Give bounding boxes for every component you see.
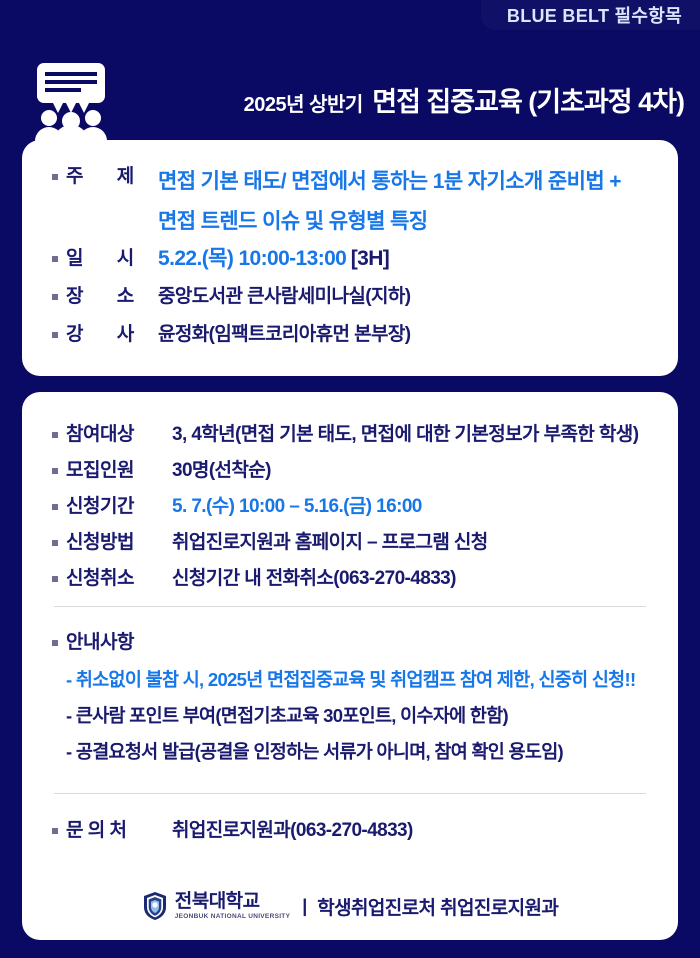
row-application-method: 신청방법 취업진로지원과 홈페이지 – 프로그램 신청 <box>22 528 678 558</box>
note-item-3: - 공결요청서 발급(공결을 인정하는 서류가 아니며, 참여 확인 용도임) <box>66 738 563 764</box>
square-bullet-icon <box>52 332 58 338</box>
row-subject: 주 제 면접 기본 태도/ 면접에서 통하는 1분 자기소개 준비법 + 면접 … <box>22 162 678 242</box>
row-target-audience: 참여대상 3, 4학년(면접 기본 태도, 면접에 대한 기본정보가 부족한 학… <box>22 420 678 450</box>
university-name-en: JEONBUK NATIONAL UNIVERSITY <box>175 912 290 921</box>
footer-separator: | <box>302 896 307 917</box>
title-prefix: 2025년 상반기 <box>244 94 363 116</box>
blue-belt-tag: BLUE BELT 필수항목 <box>481 0 700 30</box>
value-application-period: 5. 7.(수) 10:00 – 5.16.(금) 16:00 <box>172 492 422 522</box>
title-main: 면접 집중교육 (기초과정 4차) <box>372 87 684 117</box>
row-cancellation: 신청취소 신청기간 내 전화취소(063-270-4833) <box>22 564 678 594</box>
section-divider <box>54 606 646 607</box>
label-notes-heading: 안내사항 <box>66 628 134 658</box>
square-bullet-icon <box>52 174 58 180</box>
row-location: 장 소 중앙도서관 큰사람세미나실(지하) <box>22 282 678 312</box>
label-capacity: 모집인원 <box>66 456 172 486</box>
square-bullet-icon <box>52 294 58 300</box>
note-item-1: - 취소없이 불참 시, 2025년 면접집중교육 및 취업캠프 참여 제한, … <box>66 666 635 692</box>
program-details-card: 주 제 면접 기본 태도/ 면접에서 통하는 1분 자기소개 준비법 + 면접 … <box>22 140 678 376</box>
datetime-value: 5.22.(목) 10:00-13:00 <box>158 247 346 270</box>
square-bullet-icon <box>52 256 58 262</box>
label-application-period: 신청기간 <box>66 492 172 522</box>
square-bullet-icon <box>52 640 58 646</box>
page-title: 2025년 상반기 면접 집중교육 (기초과정 4차) <box>200 80 684 119</box>
value-capacity: 30명(선착순) <box>172 456 271 486</box>
datetime-duration: [3H] <box>351 247 389 270</box>
jbnu-shield-logo-icon <box>142 891 168 921</box>
value-location: 중앙도서관 큰사람세미나실(지하) <box>158 282 410 312</box>
square-bullet-icon <box>52 468 58 474</box>
value-contact: 취업진로지원과(063-270-4833) <box>172 816 413 846</box>
label-contact: 문 의 처 <box>66 816 172 846</box>
value-cancellation: 신청기간 내 전화취소(063-270-4833) <box>172 564 456 594</box>
application-info-card: 참여대상 3, 4학년(면접 기본 태도, 면접에 대한 기본정보가 부족한 학… <box>22 392 678 940</box>
university-name-ko: 전북대학교 <box>175 892 290 911</box>
square-bullet-icon <box>52 828 58 834</box>
value-target-audience: 3, 4학년(면접 기본 태도, 면접에 대한 기본정보가 부족한 학생) <box>172 420 638 450</box>
label-target-audience: 참여대상 <box>66 420 172 450</box>
blue-belt-label: BLUE BELT 필수항목 <box>507 2 682 28</box>
value-subject: 면접 기본 태도/ 면접에서 통하는 1분 자기소개 준비법 + 면접 트렌드 … <box>158 162 621 242</box>
label-datetime: 일 시 <box>66 244 158 274</box>
square-bullet-icon <box>52 504 58 510</box>
row-datetime: 일 시 5.22.(목) 10:00-13:00 [3H] <box>22 244 678 274</box>
row-instructor: 강 사 윤정화(임팩트코리아휴먼 본부장) <box>22 320 678 350</box>
top-banner-bar: BLUE BELT 필수항목 <box>0 0 700 30</box>
subject-line-1: 면접 기본 태도/ 면접에서 통하는 1분 자기소개 준비법 + <box>158 170 621 193</box>
label-application-method: 신청방법 <box>66 528 172 558</box>
section-divider <box>54 793 646 794</box>
row-contact: 문 의 처 취업진로지원과(063-270-4833) <box>22 816 678 846</box>
row-notes-heading: 안내사항 <box>22 628 678 658</box>
presentation-audience-icon <box>33 63 109 141</box>
footer-branding: 전북대학교 JEONBUK NATIONAL UNIVERSITY | 학생취업… <box>22 878 678 934</box>
value-application-method: 취업진로지원과 홈페이지 – 프로그램 신청 <box>172 528 488 558</box>
value-datetime: 5.22.(목) 10:00-13:00 [3H] <box>158 244 389 274</box>
label-instructor: 강 사 <box>66 320 158 350</box>
note-item-2: - 큰사람 포인트 부여(면접기초교육 30포인트, 이수자에 한함) <box>66 702 508 728</box>
poster-header: 2025년 상반기 면접 집중교육 (기초과정 4차) <box>0 30 700 140</box>
label-subject: 주 제 <box>66 162 158 192</box>
square-bullet-icon <box>52 540 58 546</box>
university-logo-text: 전북대학교 JEONBUK NATIONAL UNIVERSITY <box>175 892 290 921</box>
square-bullet-icon <box>52 576 58 582</box>
row-application-period: 신청기간 5. 7.(수) 10:00 – 5.16.(금) 16:00 <box>22 492 678 522</box>
value-instructor: 윤정화(임팩트코리아휴먼 본부장) <box>158 320 410 350</box>
row-capacity: 모집인원 30명(선착순) <box>22 456 678 486</box>
label-location: 장 소 <box>66 282 158 312</box>
label-cancellation: 신청취소 <box>66 564 172 594</box>
subject-line-2: 면접 트렌드 이슈 및 유형별 특징 <box>158 210 428 233</box>
department-name: 학생취업진로처 취업진로지원과 <box>317 893 558 920</box>
square-bullet-icon <box>52 432 58 438</box>
